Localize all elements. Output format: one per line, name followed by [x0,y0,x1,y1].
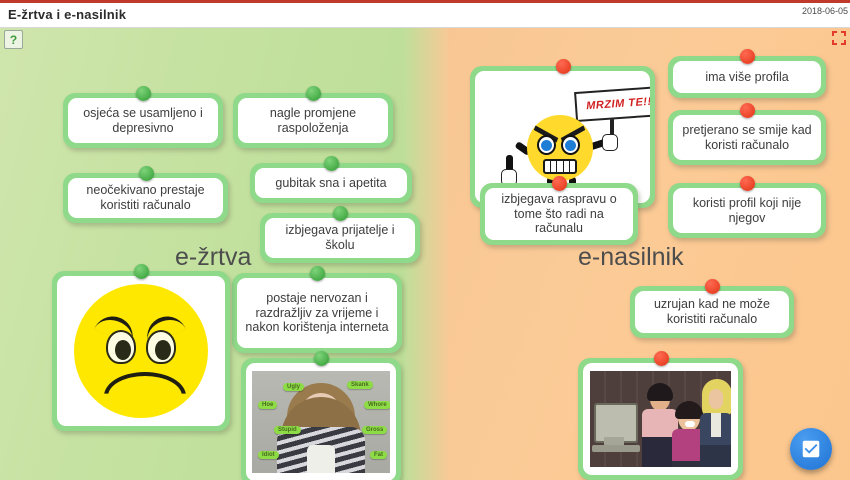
node-pin-green [306,86,321,101]
node-label: ima više profila [705,70,788,85]
node-pin-green [333,206,348,221]
node-body: izbjegava prijatelje i školu [265,218,415,258]
node-bully-laughs-excessively[interactable]: pretjerano se smije kad koristi računalo [668,110,826,165]
node-label: postaje nervozan i razdražljiv za vrijem… [242,291,392,335]
page-title: E-žrtva i e-nasilnik [8,7,126,22]
angry-gritted-mouth [543,159,577,174]
node-victim-lonely-depressed[interactable]: osjeća se usamljeno i depresivno [63,93,223,148]
slur-bubble: Fat [370,451,387,459]
node-pin-green [139,166,154,181]
node-pin-red [556,59,571,74]
hand-right [602,134,618,151]
node-pin-red [705,279,720,294]
node-bully-upset-without-computer[interactable]: uzrujan kad ne može koristiti računalo [630,286,794,338]
slur-bubble: Idiot [258,451,279,459]
node-victim-bullied-girl-image[interactable]: Ugly Skank Hoe Whore Stupid Gross Idiot … [241,358,401,480]
node-bully-laughing-girls-image[interactable] [578,358,743,480]
node-victim-sad-face-image[interactable] [52,271,230,431]
node-label: uzrujan kad ne može koristiti računalo [640,297,784,327]
node-victim-avoids-friends-school[interactable]: izbjegava prijatelje i školu [260,213,420,263]
node-label: nagle promjene raspoloženja [243,106,383,136]
node-body: koristi profil koji nije njegov [673,188,821,233]
node-body: neočekivano prestaje koristiti računalo [68,178,223,218]
header-date: 2018-06-05 [802,6,848,16]
node-body: postaje nervozan i razdražljiv za vrijem… [237,278,397,348]
node-pin-red [740,103,755,118]
help-glyph: ? [10,34,17,46]
node-pin-green [136,86,151,101]
slur-bubble: Hoe [258,401,277,409]
victim-side-label: e-žrtva [175,243,251,272]
node-victim-stops-using-computer[interactable]: neočekivano prestaje koristiti računalo [63,173,228,223]
slur-bubble: Gross [362,426,387,434]
node-label: osjeća se usamljeno i depresivno [73,106,213,136]
node-victim-sleep-appetite-loss[interactable]: gubitak sna i apetita [250,163,412,203]
node-bully-multiple-profiles[interactable]: ima više profila [668,56,826,98]
node-pin-green [134,264,149,279]
photo-frame: Ugly Skank Hoe Whore Stupid Gross Idiot … [252,371,390,473]
cartoon-girl3-face [709,389,723,409]
node-bully-avoids-discussion[interactable]: izbjegava raspravu o tome što radi na ra… [480,183,638,245]
sad-eye-right [146,330,176,364]
bullied-girl-photo: Ugly Skank Hoe Whore Stupid Gross Idiot … [246,363,396,480]
node-label: neočekivano prestaje koristiti računalo [73,183,218,213]
node-label: pretjerano se smije kad koristi računalo [678,123,816,153]
photo-frame [590,371,731,467]
help-question-icon[interactable]: ? [4,30,23,49]
node-victim-nervous-irritable[interactable]: postaje nervozan i razdražljiv za vrijem… [232,273,402,353]
sad-face-emoji-image [57,276,225,426]
node-body: uzrujan kad ne može koristiti računalo [635,291,789,333]
hate-sign: MRZIM TE!! [574,86,650,122]
angry-eye-left [537,135,556,155]
node-victim-mood-swings[interactable]: nagle promjene raspoloženja [233,93,393,148]
slur-bubble: Skank [347,381,373,389]
bully-side-label: e-nasilnik [578,243,684,272]
node-body: osjeća se usamljeno i depresivno [68,98,218,143]
hate-sign-text: MRZIM TE!! [586,96,650,113]
angry-iris-left [541,140,552,151]
mindmap-canvas: ? e-žrtva e-nasilnik osjeća se usamljeno… [0,28,850,480]
sad-face-circle [74,284,208,418]
node-body: pretjerano se smije kad koristi računalo [673,115,821,160]
node-pin-red [552,176,567,191]
sad-mouth [104,372,186,420]
application-window: E-žrtva i e-nasilnik 2018-06-05 ? e-žrtv… [0,0,850,480]
cartoon-girl3-legs [700,445,731,467]
angry-iris-right [565,140,576,151]
node-body: nagle promjene raspoloženja [238,98,388,143]
confirm-checkbox-button[interactable] [790,428,832,470]
node-body: izbjegava raspravu o tome što radi na ra… [485,188,633,240]
slur-bubble: Ugly [283,383,304,391]
node-pin-green [324,156,339,171]
node-label: izbjegava raspravu o tome što radi na ra… [490,192,628,236]
girls-laughing-at-computer-image [583,363,738,475]
sad-pupil-left [115,340,131,360]
node-pin-red [740,49,755,64]
sad-pupil-right [155,340,171,360]
node-body: gubitak sna i apetita [255,168,407,198]
node-pin-red [740,176,755,191]
node-bully-uses-others-profile[interactable]: koristi profil koji nije njegov [668,183,826,238]
node-label: gubitak sna i apetita [275,176,386,191]
angry-eye-right [561,135,580,155]
node-pin-green [310,266,325,281]
node-label: izbjegava prijatelje i školu [270,223,410,253]
node-pin-red [654,351,669,366]
node-body: ima više profila [673,61,821,93]
cartoon-desk [592,445,640,452]
node-pin-green [314,351,329,366]
node-label: koristi profil koji nije njegov [678,196,816,226]
slur-bubble: Stupid [274,426,301,434]
window-header: E-žrtva i e-nasilnik 2018-06-05 [0,3,850,28]
slur-bubble: Whore [364,401,390,409]
cartoon-girl3-shirt [711,413,721,437]
cartoon-monitor-stand [604,437,624,445]
sad-eye-left [106,330,136,364]
expand-fullscreen-icon[interactable] [832,31,846,45]
girl-inner-shirt [307,445,335,473]
angry-face-circle [527,115,593,181]
checkbox-check-icon [800,438,822,460]
cartoon-girl2-mouth [685,421,695,427]
